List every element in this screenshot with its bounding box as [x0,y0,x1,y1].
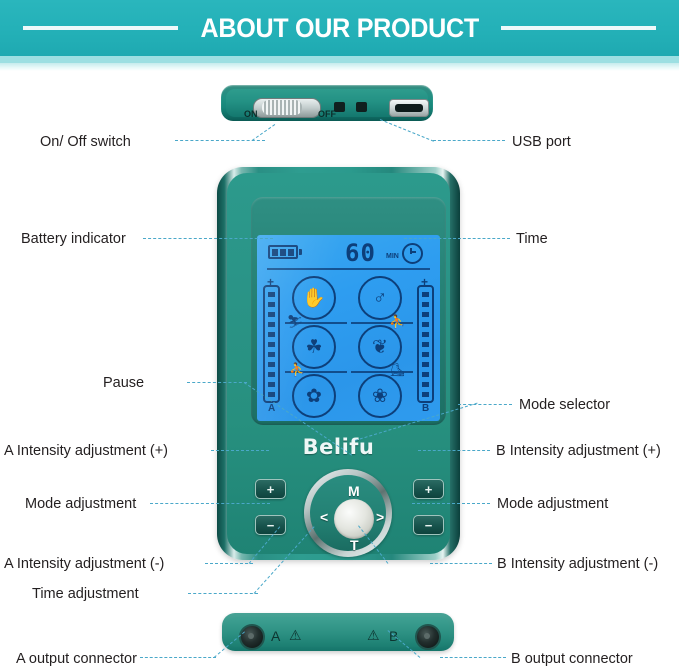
leader-on-off-diag [252,124,276,141]
callout-battery-indicator: Battery indicator [21,231,126,247]
intensity-segment [422,332,429,337]
callout-mode-selector: Mode selector [519,397,610,413]
callout-a-intensity-plus: A Intensity adjustment (+) [4,443,168,459]
leader-pause [187,382,247,383]
callout-b-output-connector: B output connector [511,651,633,667]
timer-button-label[interactable]: T [350,537,359,553]
output-jack-b[interactable] [415,624,441,650]
usb-port-opening [395,104,423,112]
mode-icon-circle: ✿ [292,374,336,418]
battery-segment [280,249,286,256]
intensity-segment [422,342,429,347]
battery-segment [272,249,278,256]
leader-b-output [440,657,506,658]
callout-pause: Pause [103,375,144,391]
channel-b-label: B [422,403,429,414]
device-front-face: 60 MIN + A + B ✋♂☘❦✿❀⛷⛹⛹⛸ [227,173,450,554]
page-title: ABOUT OUR PRODUCT [200,13,478,44]
mode-icon-glyph: ❦ [360,327,400,367]
intensity-segment [422,382,429,387]
device-top-edge-face: ON OFF [226,89,428,117]
pause-center-button[interactable] [334,499,374,539]
callout-time: Time [516,231,548,247]
output-jack-a[interactable] [239,624,265,650]
channel-a-label: A [268,403,275,414]
intensity-segment [268,342,275,347]
mode-icon-glyph: ☘ [294,327,334,367]
intensity-segment [422,362,429,367]
intensity-segment [268,332,275,337]
right-arrow-button[interactable]: > [376,509,384,525]
lcd-divider [267,268,430,270]
power-switch-on-label: ON [244,109,258,119]
callout-mode-adjustment-left: Mode adjustment [25,496,136,512]
battery-segment [288,249,294,256]
leader-battery [143,238,273,239]
intensity-segment [268,302,275,307]
intensity-segment [268,372,275,377]
intensity-segment [268,352,275,357]
mode-icon-cell[interactable]: ✿ [285,373,347,419]
callout-usb-port: USB port [512,134,571,150]
mode-icon-cell[interactable]: ❀ [351,373,413,419]
leader-time [404,238,510,239]
indicator-slot-2 [356,102,367,112]
device-body: 60 MIN + A + B ✋♂☘❦✿❀⛷⛹⛹⛸ [217,167,460,560]
mode-icon-grid: ✋♂☘❦✿❀⛷⛹⛹⛸ [285,275,413,419]
intensity-segment [422,312,429,317]
leader-a-plus [211,450,269,451]
clock-minute-hand [410,251,416,253]
intensity-segment [268,382,275,387]
mode-figure-icon: ⛹ [389,315,405,328]
dpad-inner-ring: M T < > [310,475,386,551]
callout-time-adjustment: Time adjustment [32,586,139,602]
callout-on-off-switch: On/ Off switch [40,134,131,150]
intensity-segment [422,322,429,327]
leader-b-minus [430,563,492,564]
leader-time-adj [188,593,258,594]
a-intensity-increase-button[interactable]: + [255,479,286,499]
intensity-segment [268,362,275,367]
b-intensity-decrease-button[interactable]: − [413,515,444,535]
device-bottom-edge: A ⚠ ⚠ B [222,613,454,651]
leader-mode-adj-right [412,503,490,504]
clock-icon [402,243,423,264]
left-arrow-button[interactable]: < [320,509,328,525]
leader-mode-adj-left [150,503,270,504]
mode-icon-glyph: ♂ [360,278,400,318]
intensity-segment [422,352,429,357]
intensity-bar-b [417,285,434,403]
power-switch-knob[interactable] [262,100,302,115]
mode-figure-icon: ⛸ [389,363,406,376]
mode-icon-glyph: ❀ [360,376,400,416]
device-bottom-edge-face: A ⚠ ⚠ B [227,617,449,647]
intensity-segment [268,292,275,297]
intensity-segment [268,312,275,317]
screen-bezel: 60 MIN + A + B ✋♂☘❦✿❀⛷⛹⛹⛸ [251,197,446,425]
header-rule-right [501,26,656,30]
leader-usb [433,140,505,141]
callout-b-intensity-plus: B Intensity adjustment (+) [496,443,661,459]
battery-icon-tip [299,249,302,255]
intensity-segment [422,292,429,297]
timer-value: 60 [345,239,376,267]
callout-mode-adjustment-right: Mode adjustment [497,496,608,512]
lcd-screen: 60 MIN + A + B ✋♂☘❦✿❀⛷⛹⛹⛸ [257,235,440,421]
output-jack-a-label: A [271,628,280,644]
power-switch[interactable] [253,98,321,118]
header-rule-left [23,26,178,30]
navigation-dpad[interactable]: M T < > [304,469,392,557]
mode-figure-icon: ⛷ [287,315,304,328]
leader-a-minus [205,563,253,564]
battery-icon [268,245,298,259]
intensity-segment [422,372,429,377]
leader-a-output [140,657,216,658]
b-intensity-increase-button[interactable]: + [413,479,444,499]
callout-a-intensity-minus: A Intensity adjustment (-) [4,556,164,572]
output-jack-a-pin [248,633,254,639]
intensity-bar-a [263,285,280,403]
intensity-segment [268,392,275,397]
warning-icon-a: ⚠ [289,627,302,644]
leader-b-plus [418,450,490,451]
callout-a-output-connector: A output connector [16,651,137,667]
mode-icon-circle: ❀ [358,374,402,418]
mode-icon-glyph: ✿ [294,376,334,416]
callout-b-intensity-minus: B Intensity adjustment (-) [497,556,658,572]
header-band-upper [0,56,679,63]
intensity-segment [422,392,429,397]
a-intensity-decrease-button[interactable]: − [255,515,286,535]
mode-icon-glyph: ✋ [294,278,334,318]
usb-port[interactable] [389,99,429,117]
timer-unit: MIN [386,253,399,260]
output-jack-b-pin [424,633,430,639]
header-band-lower [0,63,679,71]
lcd-status-bar: 60 MIN [257,235,440,271]
mode-button-label[interactable]: M [348,483,360,499]
indicator-slot-1 [334,102,345,112]
intensity-segment [268,322,275,327]
leader-usb-diag [380,119,434,142]
intensity-segment [422,302,429,307]
mode-figure-icon: ⛹ [289,363,305,376]
warning-icon-b: ⚠ [367,627,380,644]
page-header: ABOUT OUR PRODUCT [0,0,679,56]
device-top-edge: ON OFF [221,85,433,121]
